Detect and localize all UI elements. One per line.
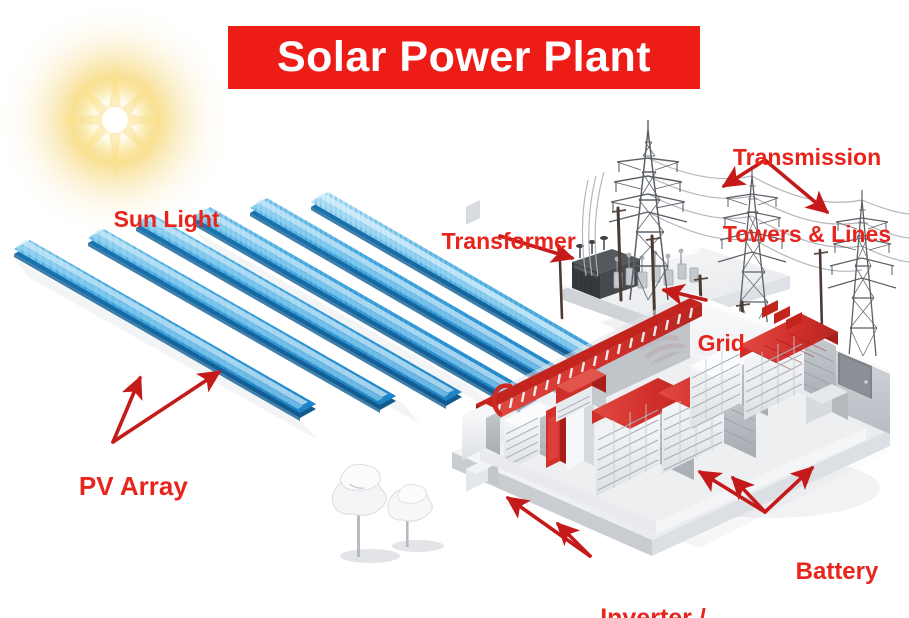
label-transformer: Transformer bbox=[416, 203, 576, 280]
label-battery-bank: Battery Bank bbox=[772, 505, 902, 618]
label-line-1: Inverter / bbox=[546, 604, 760, 618]
tree-icon bbox=[388, 484, 444, 552]
label-line-1: Battery bbox=[772, 559, 902, 586]
label-line-1: Transmission bbox=[714, 145, 900, 171]
solar-power-plant-diagram: Solar Power Plant Sun Light Transmission… bbox=[0, 0, 909, 618]
label-transmission-towers-lines: Transmission Towers & Lines bbox=[714, 93, 900, 299]
label-sun-light: Sun Light bbox=[88, 181, 220, 258]
page-title: Solar Power Plant bbox=[277, 33, 651, 82]
label-line-2: Towers & Lines bbox=[714, 222, 900, 248]
label-grid: Grid bbox=[672, 305, 745, 382]
label-inverter-charge-controller: Inverter / Charge Controller bbox=[546, 548, 760, 618]
title-banner: Solar Power Plant bbox=[228, 26, 700, 89]
label-pv-array: PV Array bbox=[50, 443, 188, 530]
